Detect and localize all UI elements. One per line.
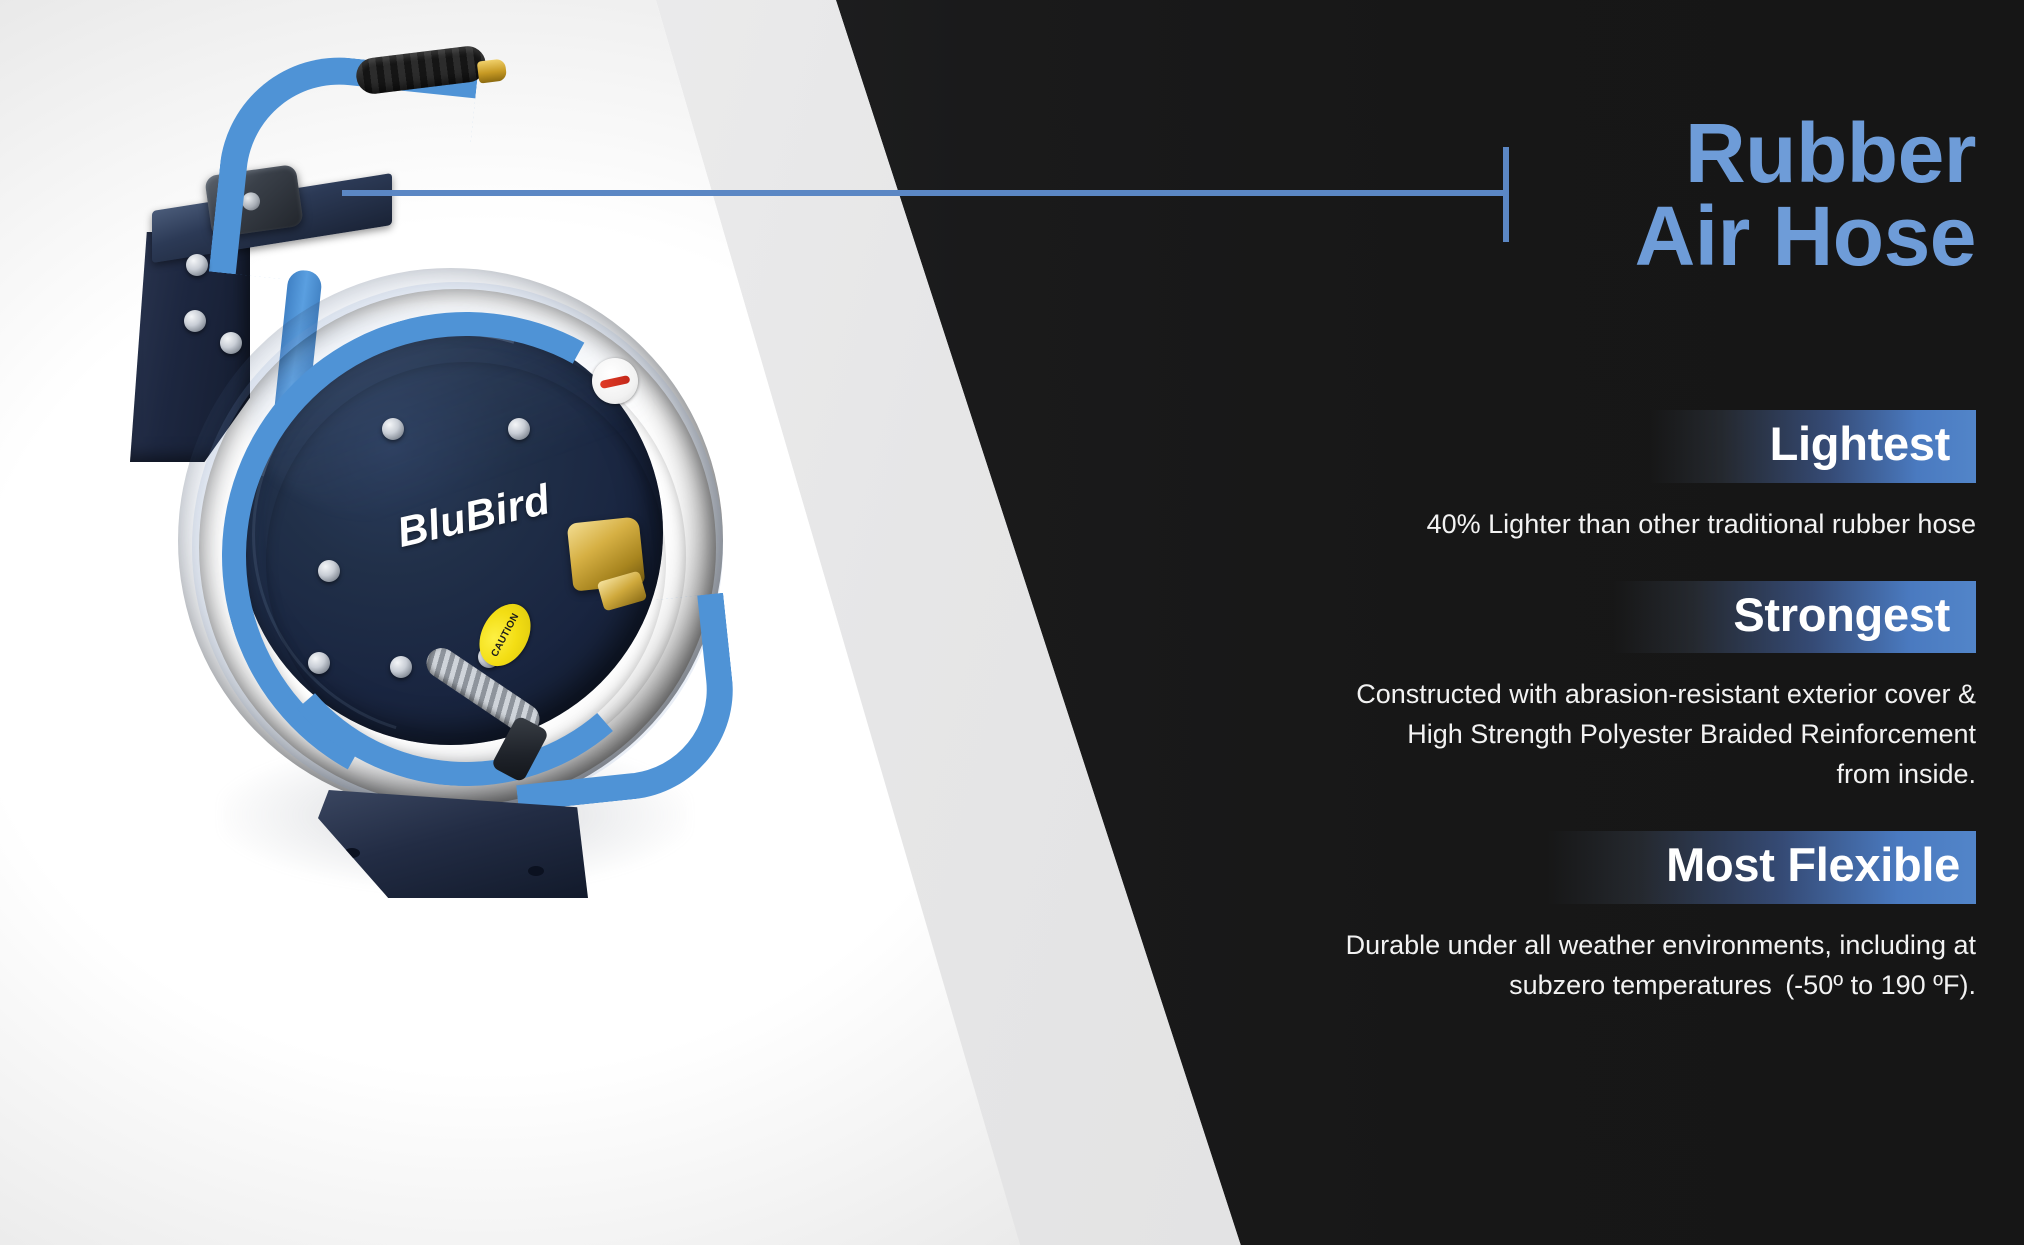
feature-list: Lightest 40% Lighter than other traditio… (1140, 410, 1976, 1006)
page-title-line-2: Air Hose (1100, 195, 1976, 278)
infographic-canvas: CAUTION BluBird Rubber Air Hose Lightest… (0, 0, 2024, 1245)
reel-warning-sticker (592, 358, 638, 404)
feature-line: High Strength Polyester Braided Reinforc… (1140, 715, 1976, 755)
page-title-line-1: Rubber (1685, 106, 1976, 200)
feature-badge-strongest: Strongest (1613, 581, 1976, 654)
bracket-bolt (184, 310, 206, 332)
feature-description-most-flexible: Durable under all weather environments, … (1140, 926, 1976, 1006)
feature-line: 40% Lighter than other traditional rubbe… (1140, 505, 1976, 545)
reel-bolt (390, 656, 412, 678)
feature-line: Durable under all weather environments, … (1140, 926, 1976, 966)
feature-badge-row: Lightest (1140, 410, 1976, 483)
hose-outlet-bend (498, 593, 743, 812)
bracket-bolt (220, 332, 242, 354)
reel-bolt (508, 418, 530, 440)
product-image-hose-reel: CAUTION BluBird (100, 20, 820, 930)
feature-description-lightest: 40% Lighter than other traditional rubbe… (1140, 505, 1976, 545)
feature-most-flexible: Most Flexible Durable under all weather … (1140, 831, 1976, 1006)
feature-line: Constructed with abrasion-resistant exte… (1140, 675, 1976, 715)
feature-lightest: Lightest 40% Lighter than other traditio… (1140, 410, 1976, 545)
feature-strongest: Strongest Constructed with abrasion-resi… (1140, 581, 1976, 796)
feature-badge-most-flexible: Most Flexible (1546, 831, 1976, 904)
feature-badge-lightest: Lightest (1650, 410, 1976, 483)
bracket-bolt (186, 254, 208, 276)
reel-bolt (318, 560, 340, 582)
base-bolt-hole (528, 866, 544, 876)
reel-bolt (382, 418, 404, 440)
feature-line: from inside. (1140, 755, 1976, 795)
feature-badge-row: Strongest (1140, 581, 1976, 654)
hose-brass-tip (477, 58, 507, 83)
feature-line: subzero temperatures (-50º to 190 ºF). (1140, 966, 1976, 1006)
page-title: Rubber Air Hose (1100, 112, 1976, 278)
caution-sticker-label: CAUTION (489, 611, 521, 658)
feature-description-strongest: Constructed with abrasion-resistant exte… (1140, 675, 1976, 795)
feature-badge-row: Most Flexible (1140, 831, 1976, 904)
reel-bolt (308, 652, 330, 674)
